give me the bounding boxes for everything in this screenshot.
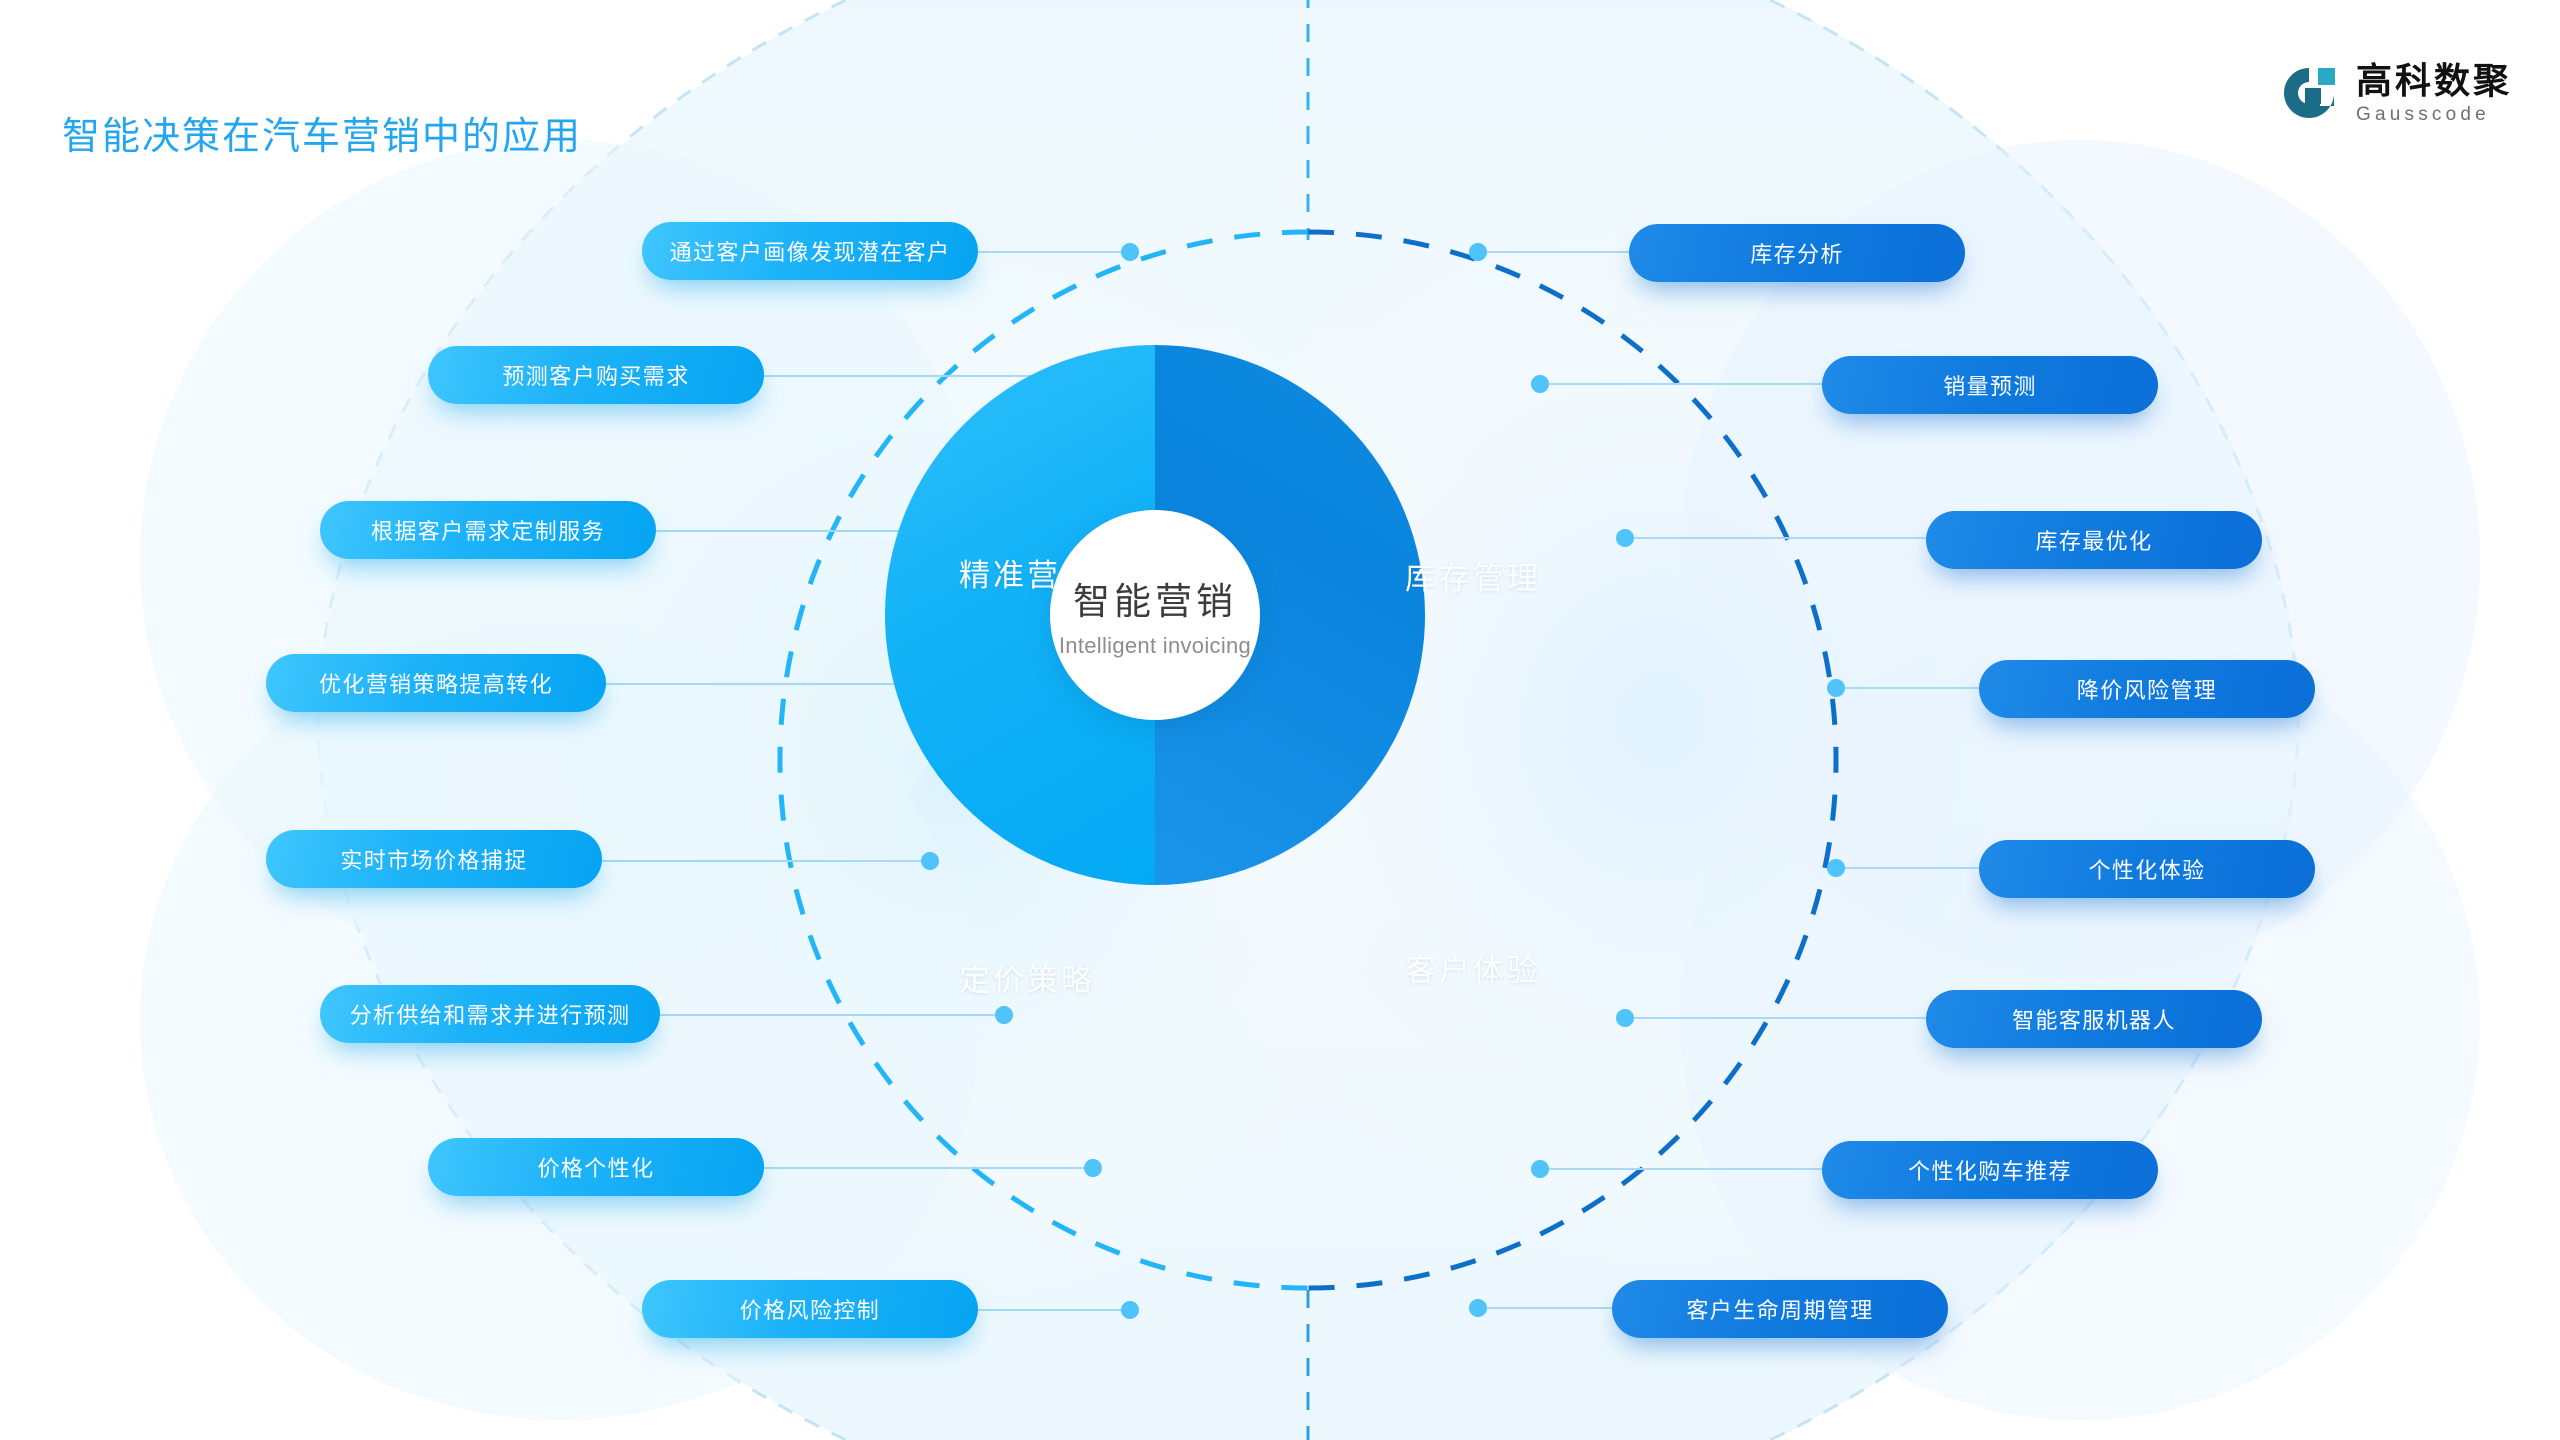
- list-item[interactable]: 实时市场价格捕捉: [266, 830, 602, 888]
- list-item[interactable]: 库存最优化: [1926, 511, 2262, 569]
- list-item[interactable]: 通过客户画像发现潜在客户: [642, 222, 978, 280]
- list-item[interactable]: 个性化购车推荐: [1822, 1141, 2158, 1199]
- list-item[interactable]: 库存分析: [1629, 224, 1965, 282]
- list-item[interactable]: 智能客服机器人: [1926, 990, 2262, 1048]
- logo-name-en: Gausscode: [2356, 105, 2512, 124]
- quadrant-label-pricing-strategy: 定价策略: [959, 955, 1095, 1000]
- list-item[interactable]: 分析供给和需求并进行预测: [320, 985, 660, 1043]
- quadrant-label-customer-experience: 客户体验: [1405, 945, 1541, 990]
- core-title-cn: 智能营销: [1073, 571, 1237, 625]
- list-item[interactable]: 根据客户需求定制服务: [320, 501, 656, 559]
- page-title: 智能决策在汽车营销中的应用: [62, 105, 582, 160]
- core-title-en: Intelligent invoicing: [1059, 633, 1251, 659]
- list-item[interactable]: 价格风险控制: [642, 1280, 978, 1338]
- logo-name-cn: 高科数聚: [2356, 63, 2512, 99]
- gausscode-logo-mark-icon: [2278, 62, 2340, 124]
- list-item[interactable]: 客户生命周期管理: [1612, 1280, 1948, 1338]
- list-item[interactable]: 价格个性化: [428, 1138, 764, 1196]
- core-center-label: 智能营销 Intelligent invoicing: [1050, 510, 1260, 720]
- quadrant-label-inventory-management: 库存管理: [1405, 553, 1541, 598]
- list-item[interactable]: 预测客户购买需求: [428, 346, 764, 404]
- list-item[interactable]: 销量预测: [1822, 356, 2158, 414]
- list-item[interactable]: 优化营销策略提高转化: [266, 654, 606, 712]
- brand-logo: 高科数聚 Gausscode: [2278, 62, 2512, 124]
- infographic-canvas: 智能决策在汽车营销中的应用 高科数聚 Gausscode 精准营销 库存管理 定…: [0, 0, 2560, 1440]
- list-item[interactable]: 个性化体验: [1979, 840, 2315, 898]
- list-item[interactable]: 降价风险管理: [1979, 660, 2315, 718]
